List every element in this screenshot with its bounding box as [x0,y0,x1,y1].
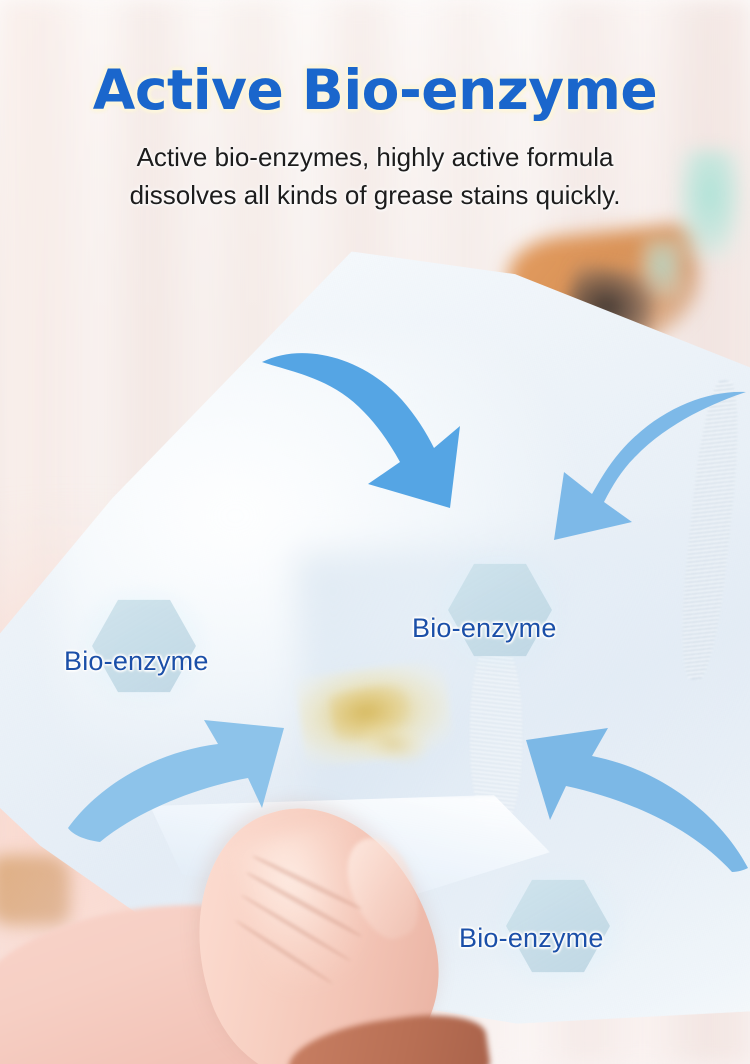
heading-block: Active Bio-enzyme Active bio-enzymes, hi… [0,0,750,215]
subtitle-line-2: dissolves all kinds of grease stains qui… [0,177,750,215]
page-title: Active Bio-enzyme [0,0,750,119]
background-wood-object-left [0,855,70,925]
bio-enzyme-label-left: Bio-enzyme [64,646,209,677]
product-poster: Bio-enzyme Bio-enzyme Bio-enzyme Active … [0,0,750,1064]
bio-enzyme-label-bottom: Bio-enzyme [459,923,604,954]
page-subtitle: Active bio-enzymes, highly active formul… [0,119,750,215]
arrow-bottom-right-icon [496,718,750,874]
arrow-top-right-icon [538,388,750,543]
arrow-bottom-left-icon [66,716,298,844]
arrow-top-left-icon [258,338,468,513]
subtitle-line-1: Active bio-enzymes, highly active formul… [0,139,750,177]
bio-enzyme-label-center: Bio-enzyme [412,613,557,644]
